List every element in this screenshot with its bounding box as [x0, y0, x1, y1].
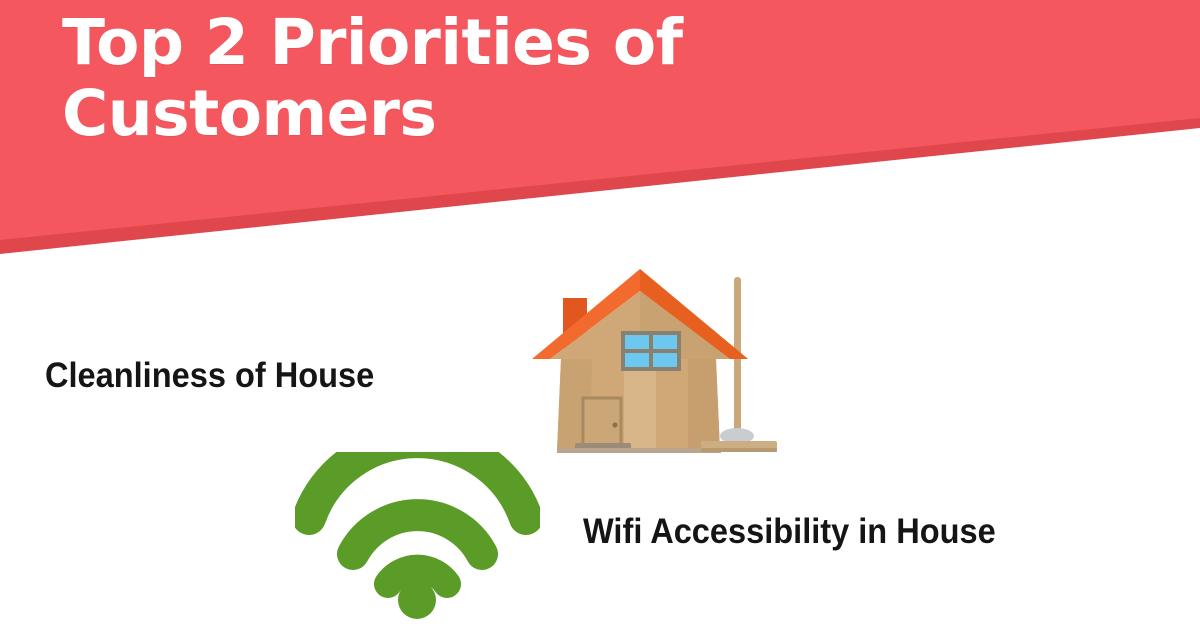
header-banner: Top 2 Priorities of Customers — [0, 0, 1200, 260]
house-window-pane-top-left — [625, 335, 649, 349]
house-window-pane-top-right — [653, 335, 677, 349]
wifi-center-dot — [398, 581, 436, 619]
house-wall-highlight — [624, 359, 656, 451]
priority-label-cleanliness: Cleanliness of House — [45, 358, 374, 393]
wifi-signal-icon — [295, 452, 540, 620]
wifi-arc-middle — [353, 515, 482, 554]
priority-label-wifi: Wifi Accessibility in House — [583, 514, 996, 549]
broom-handle-icon — [734, 277, 741, 445]
broom-head-shadow — [701, 448, 777, 452]
house-window-pane-bottom-left — [625, 353, 649, 367]
house-with-broom-icon — [520, 255, 820, 465]
page-title: Top 2 Priorities of Customers — [62, 8, 962, 149]
infographic-poster: Top 2 Priorities of Customers Cleanlines… — [0, 0, 1200, 630]
house-ground-shadow — [557, 448, 721, 453]
house-window-pane-bottom-right — [653, 353, 677, 367]
house-door-knob-icon — [612, 422, 617, 427]
house-wall-shade-right — [688, 359, 720, 451]
